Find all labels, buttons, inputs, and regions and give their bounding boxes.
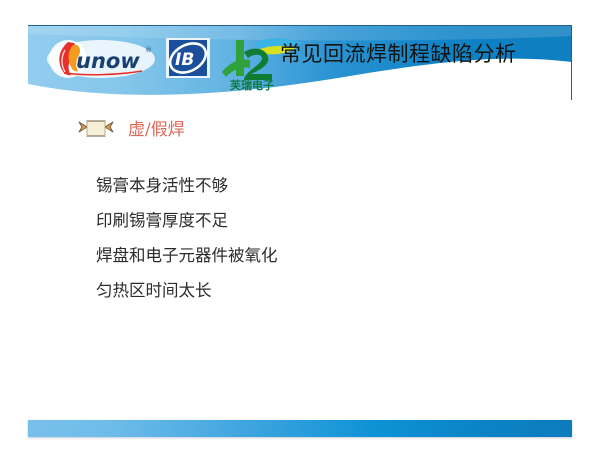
content-area: 虚/假焊 锡膏本身活性不够 印刷锡膏厚度不足 焊盘和电子元器件被氧化 匀热区时间… [0, 100, 600, 410]
ib-logo: IB [164, 36, 212, 80]
furui-wordmark: 芙瑞电子 [229, 78, 274, 92]
list-item: 匀热区时间太长 [96, 273, 278, 308]
unow-logo: unow ® [46, 38, 156, 82]
ribbon-banner-icon [78, 119, 114, 140]
list-item: 锡膏本身活性不够 [96, 168, 278, 203]
defect-cause-list: 锡膏本身活性不够 印刷锡膏厚度不足 焊盘和电子元器件被氧化 匀热区时间太长 [96, 168, 278, 308]
svg-text:®: ® [145, 46, 152, 54]
list-item: 焊盘和电子元器件被氧化 [96, 238, 278, 273]
section-heading: 虚/假焊 [78, 119, 185, 140]
section-heading-label: 虚/假焊 [128, 120, 185, 140]
footer-accent-bar [28, 420, 572, 437]
header-title: 常见回流焊制程缺陷分析 [280, 41, 568, 67]
list-item: 印刷锡膏厚度不足 [96, 203, 278, 238]
svg-text:unow: unow [76, 49, 140, 73]
header-band: unow ® IB 芙瑞电子 常见回流焊制程缺陷分析 [28, 25, 572, 100]
svg-text:IB: IB [175, 50, 194, 70]
slide-canvas: unow ® IB 芙瑞电子 常见回流焊制程缺陷分析 [0, 0, 600, 463]
